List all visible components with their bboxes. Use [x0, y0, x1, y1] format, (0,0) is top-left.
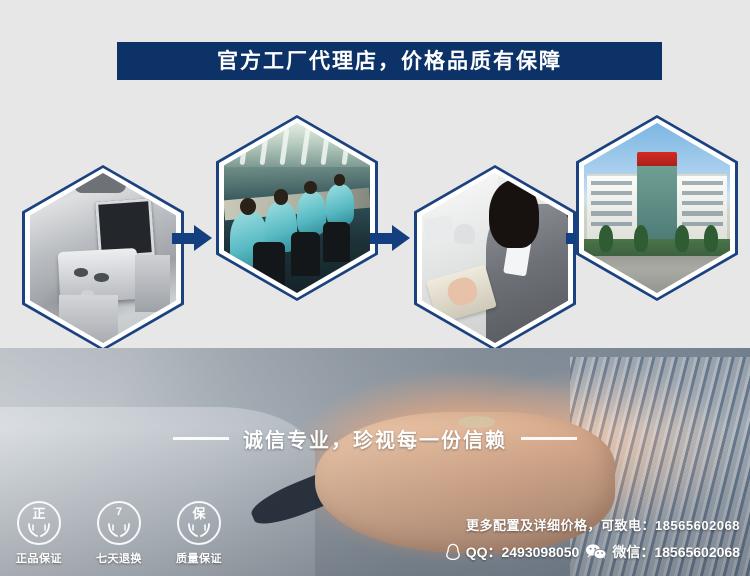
office-telephone: [423, 215, 456, 247]
building-road: [584, 256, 730, 293]
banner-title: 官方工厂代理店，价格品质有保障: [217, 51, 562, 72]
contact-im-line: QQ：2493098050 微信：18565602068: [445, 542, 740, 562]
badge-authentic: 正 正品保证: [8, 501, 70, 566]
machine-knob: [94, 273, 109, 282]
hands-shape-icon: [186, 522, 212, 538]
header-banner: 官方工厂代理店，价格品质有保障: [117, 42, 662, 80]
bottom-section: 诚信专业，珍视每一份信赖 正 正品保证 7: [0, 348, 750, 576]
badge-glyph: 保: [179, 507, 219, 520]
contact-qq[interactable]: QQ：2493098050: [445, 542, 580, 562]
arrow-right-icon: [172, 225, 212, 251]
guarantee-badges: 正 正品保证 7: [8, 501, 230, 566]
contact-info: 更多配置及详细价格，可致电：18565602068 QQ：2493098050: [445, 515, 740, 562]
tagline-rule-left: [173, 437, 229, 440]
badge-glyph: 正: [19, 507, 59, 520]
machine-side-unit: [135, 255, 170, 313]
badge-label: 质量保证: [168, 550, 230, 566]
hands-holding-icon: 正: [17, 501, 61, 545]
wechat-label: 微信：18565602068: [612, 542, 740, 562]
flow-step-service: [414, 165, 576, 351]
contact-phone-line: 更多配置及详细价格，可致电：18565602068: [445, 515, 740, 534]
tagline-text: 诚信专业，珍视每一份信赖: [243, 424, 507, 453]
tagline: 诚信专业，珍视每一份信赖: [0, 424, 750, 453]
wechat-icon: [585, 543, 607, 561]
flow-step-building: [576, 115, 738, 301]
badge-glyph: 7: [99, 507, 139, 518]
process-flow: [0, 95, 750, 335]
badge-return: 7 七天退换: [88, 501, 150, 566]
flow-step-factory: [216, 115, 378, 301]
badge-label: 正品保证: [8, 550, 70, 566]
badge-quality: 保 质量保证: [168, 501, 230, 566]
office-lamp: [454, 224, 474, 244]
arrow-right-icon: [370, 225, 410, 251]
hands-shape-icon: [106, 522, 132, 538]
badge-label: 七天退换: [88, 550, 150, 566]
hands-holding-icon: 保: [177, 501, 221, 545]
product-detail-page: 官方工厂代理店，价格品质有保障: [0, 0, 750, 576]
top-section: 官方工厂代理店，价格品质有保障: [0, 0, 750, 348]
tagline-rule-right: [521, 437, 577, 440]
machine-knob: [74, 268, 89, 277]
qq-label: QQ：2493098050: [466, 542, 580, 562]
flow-step-equipment: [22, 165, 184, 351]
contact-wechat[interactable]: 微信：18565602068: [585, 542, 740, 562]
qq-penguin-icon: [445, 543, 461, 561]
hands-holding-icon: 7: [97, 501, 141, 545]
hands-shape-icon: [26, 522, 52, 538]
